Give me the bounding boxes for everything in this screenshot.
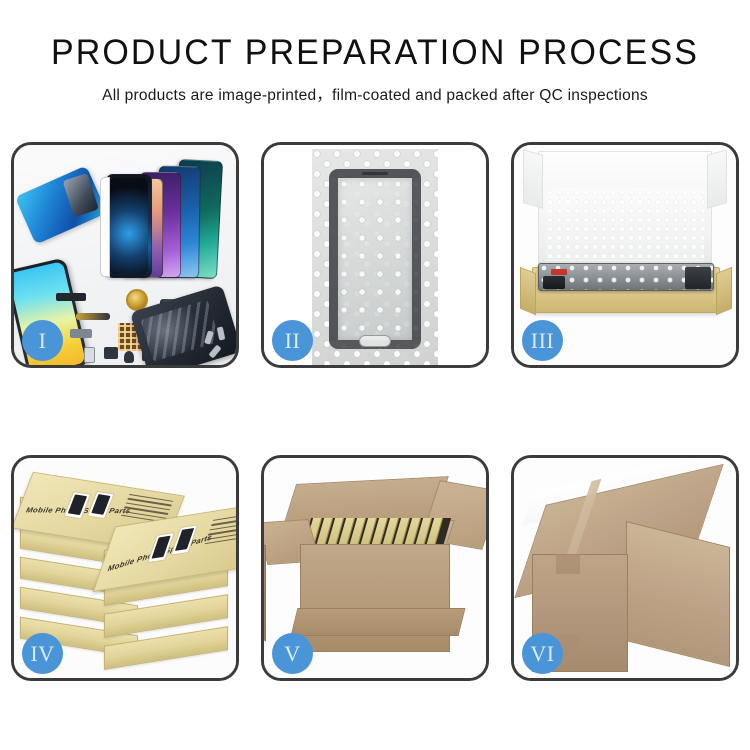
carton-flap-tab-icon bbox=[556, 554, 580, 574]
carton-side-icon bbox=[264, 535, 266, 642]
step-badge-1: I bbox=[22, 320, 63, 361]
process-step-panel-6: VI bbox=[511, 455, 739, 681]
step-badge-5: V bbox=[272, 633, 313, 674]
sealed-carton-side-icon bbox=[626, 521, 730, 667]
bubble-wrap-icon bbox=[312, 149, 438, 365]
product-preparation-infographic: PRODUCT PREPARATION PROCESS All products… bbox=[0, 0, 750, 750]
page-subtitle: All products are image-printed，film-coat… bbox=[0, 83, 750, 105]
process-step-panel-3: III bbox=[511, 142, 739, 368]
screws-icon bbox=[204, 327, 236, 361]
process-step-panel-4: Mobile Phone Spare Parts Mobile Phone Sp… bbox=[11, 455, 239, 681]
header: PRODUCT PREPARATION PROCESS All products… bbox=[0, 0, 750, 105]
process-steps-grid: I II III bbox=[11, 142, 739, 681]
page-title: PRODUCT PREPARATION PROCESS bbox=[11, 34, 739, 72]
process-step-panel-1: I bbox=[11, 142, 239, 368]
packed-screen-icon bbox=[538, 263, 714, 291]
screen-glass-icon bbox=[329, 169, 421, 349]
process-step-panel-2: II bbox=[261, 142, 489, 368]
foam-insert-icon bbox=[546, 189, 704, 267]
carton-front-flap-icon bbox=[291, 608, 466, 636]
process-step-panel-5: V bbox=[261, 455, 489, 681]
wrapped-display-part-icon bbox=[15, 165, 107, 244]
step-badge-4: IV bbox=[22, 633, 63, 674]
step-badge-6: VI bbox=[522, 633, 563, 674]
step-badge-2: II bbox=[272, 320, 313, 361]
step-badge-3: III bbox=[522, 320, 563, 361]
phone-lineup-icon bbox=[106, 153, 236, 278]
